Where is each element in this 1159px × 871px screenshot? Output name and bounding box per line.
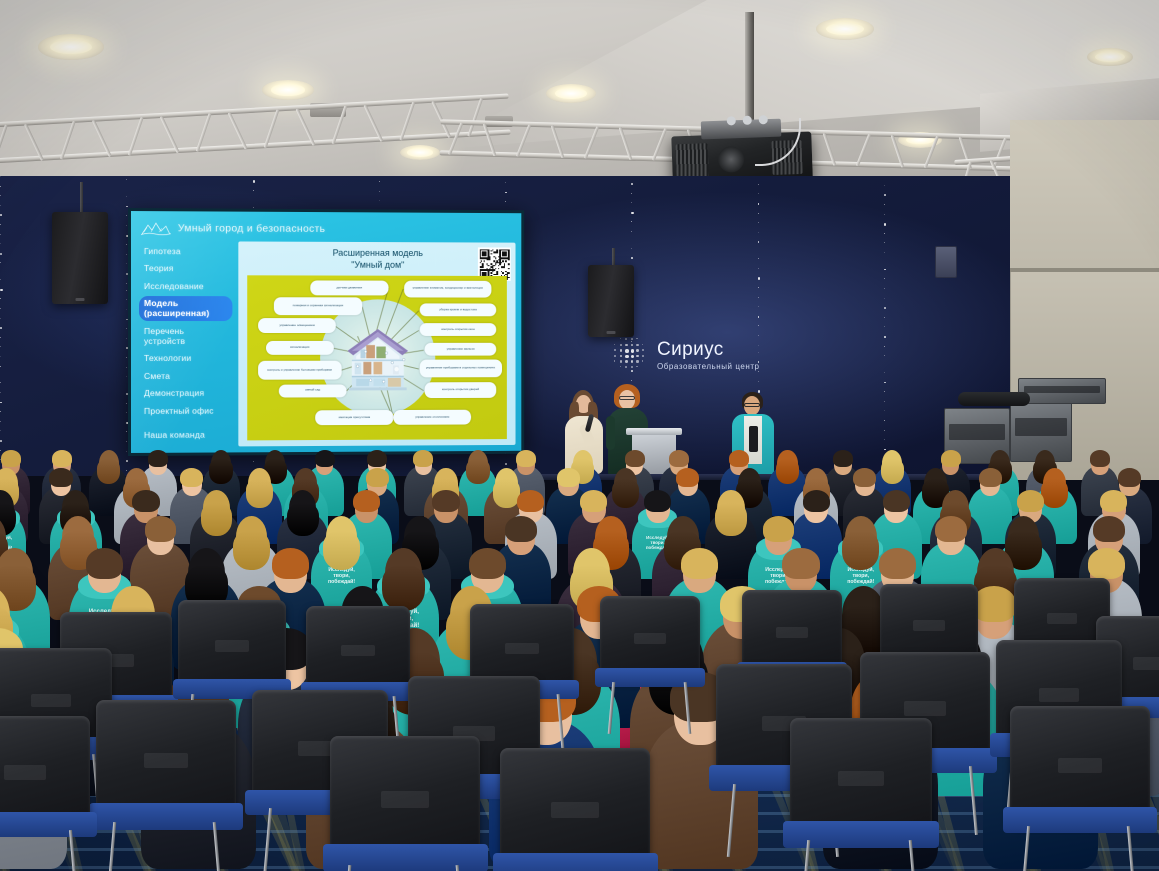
ceiling-downlight bbox=[1087, 48, 1133, 66]
hair bbox=[469, 548, 506, 579]
hair bbox=[353, 490, 380, 512]
ceiling-downlight bbox=[546, 84, 596, 103]
ceiling-downlight bbox=[400, 145, 440, 160]
hair bbox=[729, 450, 749, 467]
diagram-label-right-3: управление жалюзи bbox=[424, 343, 496, 356]
slide-nav-item-4[interactable]: Перечень устройств bbox=[139, 323, 232, 348]
slide-nav-item-2[interactable]: Исследование bbox=[139, 278, 232, 293]
hair bbox=[676, 468, 699, 487]
diagram-label-right-2: контроль открытия окон bbox=[419, 323, 496, 336]
hair bbox=[1090, 450, 1110, 467]
sirius-logo-name: Сириус bbox=[657, 340, 760, 359]
chair[interactable] bbox=[178, 600, 286, 692]
hair bbox=[413, 450, 433, 467]
hair bbox=[557, 468, 580, 487]
shirt-graphic bbox=[749, 426, 758, 452]
chair[interactable] bbox=[330, 736, 480, 862]
hair bbox=[935, 516, 967, 542]
hair bbox=[517, 490, 544, 512]
pa-speaker-left bbox=[52, 212, 108, 304]
slide-header: Умный город и безопасность bbox=[141, 217, 514, 241]
hair bbox=[681, 548, 718, 579]
ceiling-downlight bbox=[262, 80, 314, 100]
chair[interactable] bbox=[742, 590, 842, 674]
hair bbox=[1118, 468, 1141, 487]
slide-nav-item-7[interactable]: Демонстрация bbox=[139, 386, 232, 402]
chair-seat bbox=[493, 853, 658, 871]
ceiling-downlight bbox=[38, 34, 104, 60]
hair bbox=[883, 490, 910, 512]
hair bbox=[180, 468, 203, 487]
hair bbox=[148, 450, 168, 467]
chair[interactable] bbox=[790, 718, 932, 838]
hair bbox=[763, 516, 795, 542]
hair bbox=[49, 468, 72, 487]
diagram-label-right-5: контроль открытия дверей bbox=[424, 382, 496, 399]
hair bbox=[86, 548, 123, 579]
hair bbox=[941, 450, 961, 467]
chair[interactable] bbox=[1010, 706, 1150, 824]
chair-seat bbox=[0, 812, 97, 837]
hair bbox=[52, 450, 72, 467]
slide-nav-item-9[interactable]: Наша команда bbox=[139, 427, 232, 443]
conference-hall-photo: Сириус Образовательный центр Умный город… bbox=[0, 0, 1159, 871]
glasses-icon bbox=[744, 403, 760, 407]
slide-nav-item-0[interactable]: Гипотеза bbox=[139, 243, 232, 259]
chair[interactable] bbox=[600, 596, 700, 680]
hair bbox=[516, 450, 536, 467]
chair-backrest bbox=[0, 716, 90, 828]
chair-backrest bbox=[306, 606, 410, 694]
chair[interactable] bbox=[500, 748, 650, 870]
hair bbox=[644, 490, 671, 512]
hair bbox=[625, 450, 645, 467]
slide-nav-item-6[interactable]: Смета bbox=[139, 368, 232, 383]
hair bbox=[1088, 548, 1125, 579]
hair bbox=[1, 450, 21, 467]
hair bbox=[669, 450, 689, 467]
flight-case bbox=[1018, 378, 1106, 404]
chair-backrest bbox=[1010, 706, 1150, 824]
slide-nav-item-1[interactable]: Теория bbox=[139, 261, 232, 277]
sirius-dot-pattern-icon bbox=[614, 338, 648, 372]
hair bbox=[972, 586, 1015, 622]
projector-mount-pole bbox=[745, 12, 754, 122]
hair bbox=[782, 548, 819, 579]
diagram-label-left-1: пожарная и охранная сигнализация bbox=[273, 297, 362, 315]
diagram-label-left-0: датчики движения bbox=[310, 280, 388, 295]
hair bbox=[1100, 490, 1127, 512]
hair bbox=[879, 548, 916, 579]
slide-content-area: Расширенная модель "Умный дом" bbox=[238, 241, 515, 446]
hair bbox=[979, 468, 1002, 487]
chair[interactable] bbox=[306, 606, 410, 694]
chair-backrest bbox=[790, 718, 932, 838]
hair bbox=[366, 468, 389, 487]
wall-right-trim bbox=[1010, 268, 1159, 272]
diagram-label-right-4: управление приборами в отдельных помещен… bbox=[419, 359, 501, 377]
wall-access-panel bbox=[935, 246, 957, 278]
sirius-logo-subtitle: Образовательный центр bbox=[657, 362, 760, 371]
smart-home-diagram: датчики движенияпожарная и охранная сигн… bbox=[247, 275, 507, 440]
hair bbox=[1017, 490, 1044, 512]
slide-surface: Умный город и безопасность ГипотезаТеори… bbox=[131, 211, 521, 453]
lectern-top bbox=[626, 428, 682, 435]
house-illustration bbox=[342, 327, 414, 390]
slide-nav-list: ГипотезаТеорияИсследованиеМодель (расшир… bbox=[139, 243, 232, 445]
chair[interactable] bbox=[96, 700, 236, 820]
hair bbox=[432, 490, 459, 512]
hair-long bbox=[246, 479, 273, 508]
hair bbox=[580, 490, 607, 512]
chair-backrest bbox=[500, 748, 650, 870]
hair bbox=[132, 490, 159, 512]
sirius-logo: Сириус Образовательный центр bbox=[614, 338, 760, 372]
pa-speaker-right bbox=[588, 265, 634, 337]
chair-backrest bbox=[96, 700, 236, 820]
hair-long bbox=[323, 531, 360, 570]
ceiling-downlight bbox=[816, 18, 874, 40]
hair bbox=[367, 450, 387, 467]
slide-nav-item-5[interactable]: Технологии bbox=[139, 351, 232, 366]
chair-backrest bbox=[330, 736, 480, 862]
chair[interactable] bbox=[0, 716, 90, 828]
hair bbox=[505, 516, 537, 542]
hair bbox=[853, 468, 876, 487]
hair bbox=[833, 450, 853, 467]
hair bbox=[272, 548, 309, 579]
hair bbox=[145, 516, 177, 542]
diagram-title: Расширенная модель "Умный дом" bbox=[238, 241, 515, 272]
diagram-label-left-6: имитация присутствия bbox=[315, 410, 393, 425]
diagram-label-left-4: контроль и управление бытовыми приборами bbox=[258, 361, 342, 379]
slide-header-title: Умный город и безопасность bbox=[178, 222, 325, 235]
projection-screen[interactable]: Умный город и безопасность ГипотезаТеори… bbox=[128, 208, 524, 456]
arm bbox=[606, 416, 615, 450]
diagram-label-left-3: сигнализация bbox=[266, 341, 334, 354]
cable-bundle bbox=[958, 392, 1030, 406]
diagram-title-line1: Расширенная модель bbox=[238, 247, 515, 260]
diagram-label-right-6: управление отоплением bbox=[393, 410, 470, 425]
diagram-label-left-5: умный сад bbox=[279, 384, 347, 397]
diagram-label-right-0: управление климатом, кондиционер и венти… bbox=[404, 281, 492, 298]
hair bbox=[1093, 516, 1125, 542]
slide-nav-item-8[interactable]: Проектный офис bbox=[139, 403, 232, 419]
diagram-label-left-2: управление освещением bbox=[258, 318, 336, 333]
mountain-logo-icon bbox=[141, 221, 171, 236]
slide-nav-item-3[interactable]: Модель (расширенная) bbox=[139, 296, 232, 322]
diagram-title-line2: "Умный дом" bbox=[238, 259, 515, 272]
hoodie-text: Исследуй,твори,побеждай! bbox=[321, 568, 362, 585]
hair bbox=[315, 450, 335, 467]
hair-long bbox=[715, 503, 746, 537]
hair bbox=[803, 490, 830, 512]
glasses-icon bbox=[619, 396, 635, 400]
diagram-label-right-1: уборка кровли и водостока bbox=[419, 304, 496, 317]
